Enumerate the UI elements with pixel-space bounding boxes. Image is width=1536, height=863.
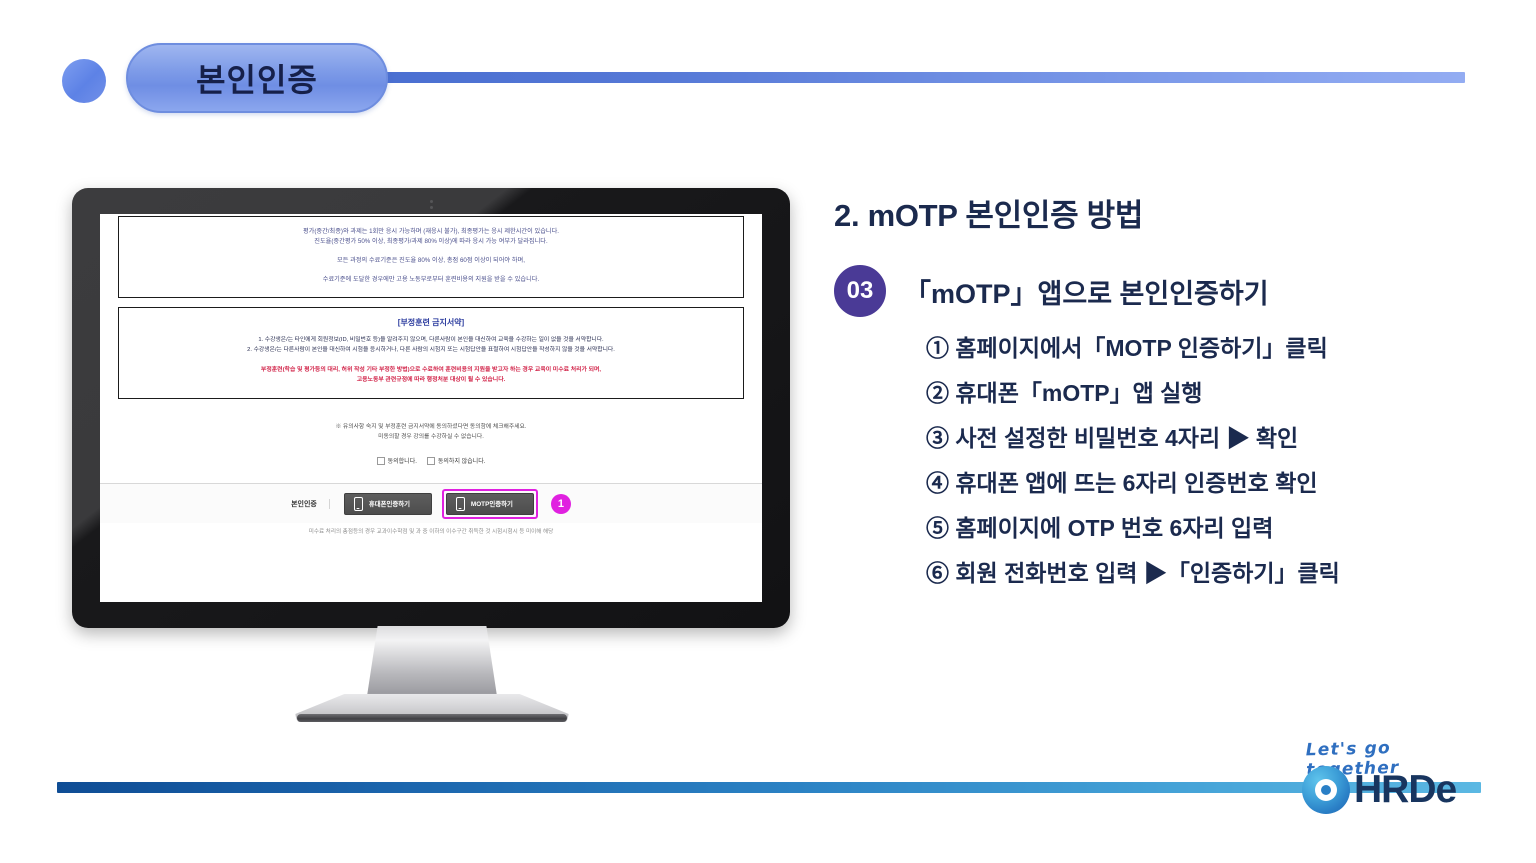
motp-highlight-box: MOTP인증하기	[442, 489, 538, 519]
phone-auth-button-label: 휴대폰인증하기	[369, 499, 410, 508]
hrde-circle-icon	[1302, 766, 1350, 814]
instructions-panel: 2. mOTP 본인인증 방법 03 「mOTP」앱으로 본인인증하기 ① 홈페…	[834, 190, 1514, 607]
mobile-phone-icon	[354, 497, 363, 511]
slide-header: 본인인증	[0, 0, 1536, 130]
pledge-warning-line: 고용노동부 관련규정에 따라 행정처분 대상이 될 수 있습니다.	[127, 376, 735, 386]
step-number-badge: 03	[834, 265, 886, 317]
pledge-item: 2. 수강생은/는 다른사람이 본인을 대신하여 시험을 응시하거나, 다른 사…	[127, 346, 735, 356]
identity-auth-bar: 본인인증 휴대폰인증하기 MOTP인증하기 1	[100, 483, 762, 523]
list-item: ⑤ 홈페이지에 OTP 번호 6자리 입력	[926, 517, 1514, 540]
step-row: 03 「mOTP」앱으로 본인인증하기	[834, 265, 1514, 317]
agreement-note: ※ 유의사항 숙지 및 부정훈련 금지서약에 동의하셨다면 동의함에 체크해주세…	[118, 423, 744, 433]
pledge-box: [부정훈련 금지서약] 1. 수강생은/는 타인에게 회원정보(ID, 비밀번호…	[118, 307, 744, 399]
list-item: ③ 사전 설정한 비밀번호 4자리 ▶ 확인	[926, 427, 1514, 450]
phone-auth-button[interactable]: 휴대폰인증하기	[344, 493, 432, 515]
list-item: ① 홈페이지에서「MOTP 인증하기」클릭	[926, 337, 1514, 360]
pledge-item: 1. 수강생은/는 타인에게 회원정보(ID, 비밀번호 등)을 알려주지 않으…	[127, 336, 735, 346]
pledge-title: [부정훈련 금지서약]	[127, 317, 735, 328]
header-rule-line	[380, 72, 1465, 83]
step-sub-list: ① 홈페이지에서「MOTP 인증하기」클릭 ② 휴대폰「mOTP」앱 실행 ③ …	[834, 337, 1514, 585]
motp-auth-button-label: MOTP인증하기	[471, 499, 513, 508]
agree-checkbox[interactable]	[377, 457, 385, 465]
agree-checkbox-label: 동의합니다.	[388, 456, 417, 465]
page-title: 본인인증	[196, 55, 318, 101]
list-item: ④ 휴대폰 앱에 뜨는 6자리 인증번호 확인	[926, 472, 1514, 495]
mobile-phone-icon	[456, 497, 465, 511]
footer-rule-bar	[57, 782, 1481, 793]
list-item: ⑥ 회원 전화번호 입력 ▶「인증하기」클릭	[926, 562, 1514, 585]
agreement-note: 미동의할 경우 강의를 수강하실 수 없습니다.	[118, 433, 744, 443]
monitor-bezel: 평가(중간/최종)와 과제는 1회만 응시 가능하며 (재응시 불가), 최종평…	[72, 188, 790, 628]
disagree-checkbox[interactable]	[427, 457, 435, 465]
clipped-footer-text: 미수료 처리의 총점등의 경우 교과이수학점 및 과 중 이하의 이수구간 취득…	[118, 523, 744, 535]
agree-checkbox-row[interactable]: 동의합니다.	[377, 456, 417, 465]
notice-line: 수료기준에 도달한 경우에만 고용 노동부로부터 훈련비용의 지원을 받을 수 …	[125, 275, 737, 285]
monitor-stand-base-edge	[297, 714, 567, 722]
disagree-checkbox-label: 동의하지 않습니다.	[438, 456, 486, 465]
monitor-screen: 평가(중간/최종)와 과제는 1회만 응시 가능하며 (재응시 불가), 최종평…	[100, 214, 762, 602]
notice-line: 진도율(중간평가 50% 이상, 최종평가/과제 80% 이상)에 따라 응시 …	[125, 237, 737, 247]
motp-auth-button[interactable]: MOTP인증하기	[446, 493, 534, 515]
webcam-icon	[429, 200, 433, 209]
header-bullet-dot	[62, 59, 106, 103]
monitor-illustration: 평가(중간/최종)와 과제는 1회만 응시 가능하며 (재응시 불가), 최종평…	[72, 188, 792, 728]
agreement-area: ※ 유의사항 숙지 및 부정훈련 금지서약에 동의하셨다면 동의함에 체크해주세…	[118, 399, 744, 465]
logo-wordmark: HRDe	[1354, 768, 1456, 812]
disagree-checkbox-row[interactable]: 동의하지 않습니다.	[427, 456, 486, 465]
step-marker-badge-1: 1	[551, 494, 571, 514]
notice-box: 평가(중간/최종)와 과제는 1회만 응시 가능하며 (재응시 불가), 최종평…	[118, 216, 744, 298]
section-title: 2. mOTP 본인인증 방법	[834, 190, 1514, 235]
lms-page: 평가(중간/최종)와 과제는 1회만 응시 가능하며 (재응시 불가), 최종평…	[100, 216, 762, 535]
header-title-pill: 본인인증	[126, 43, 388, 113]
pledge-warning-line: 부정훈련(학습 및 평가등의 대리, 허위 작성 기타 부정한 방법)으로 수료…	[127, 366, 735, 376]
list-item: ② 휴대폰「mOTP」앱 실행	[926, 382, 1514, 405]
identity-auth-label: 본인인증	[291, 499, 330, 509]
step-heading: 「mOTP」앱으로 본인인증하기	[904, 272, 1269, 311]
notice-line: 평가(중간/최종)와 과제는 1회만 응시 가능하며 (재응시 불가), 최종평…	[125, 227, 737, 237]
brand-logo: Let's go together HRDe	[1288, 738, 1488, 820]
notice-line: 모든 과정의 수료기준은 진도율 80% 이상, 총점 60점 이상이 되어야 …	[125, 256, 737, 266]
agreement-checkboxes: 동의합니다. 동의하지 않습니다.	[118, 456, 744, 465]
